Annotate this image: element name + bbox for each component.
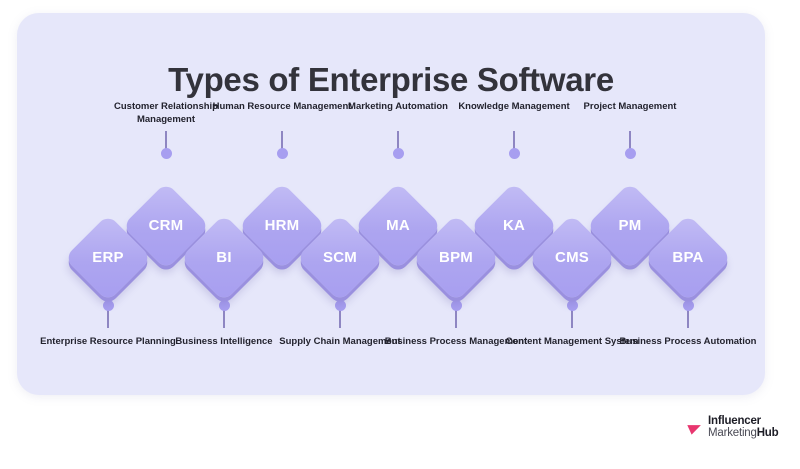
- logo-line-marketinghub: MarketingHub: [708, 428, 778, 440]
- connector-dot-pm: [625, 148, 636, 159]
- connector-dot-scm: [335, 300, 346, 311]
- diagram-stage: Enterprise Resource PlanningERPCustomer …: [0, 0, 800, 469]
- connector-dot-crm: [161, 148, 172, 159]
- connector-dot-bpm: [451, 300, 462, 311]
- connector-dot-bi: [219, 300, 230, 311]
- caption-bpa: Business Process Automation: [608, 336, 768, 349]
- logo-hub-text: Hub: [757, 427, 779, 439]
- logo-arrow-icon: [686, 419, 703, 436]
- connector-dot-ma: [393, 148, 404, 159]
- connector-dot-cms: [567, 300, 578, 311]
- logo-wordmark: Influencer MarketingHub: [708, 416, 778, 439]
- caption-pm: Project Management: [550, 101, 710, 114]
- connector-dot-hrm: [277, 148, 288, 159]
- connector-dot-ka: [509, 148, 520, 159]
- infographic-root: Types of Enterprise Software Enterprise …: [0, 0, 800, 469]
- brand-logo[interactable]: Influencer MarketingHub: [686, 416, 778, 439]
- logo-marketing-text: Marketing: [708, 427, 757, 439]
- connector-dot-erp: [103, 300, 114, 311]
- connector-dot-bpa: [683, 300, 694, 311]
